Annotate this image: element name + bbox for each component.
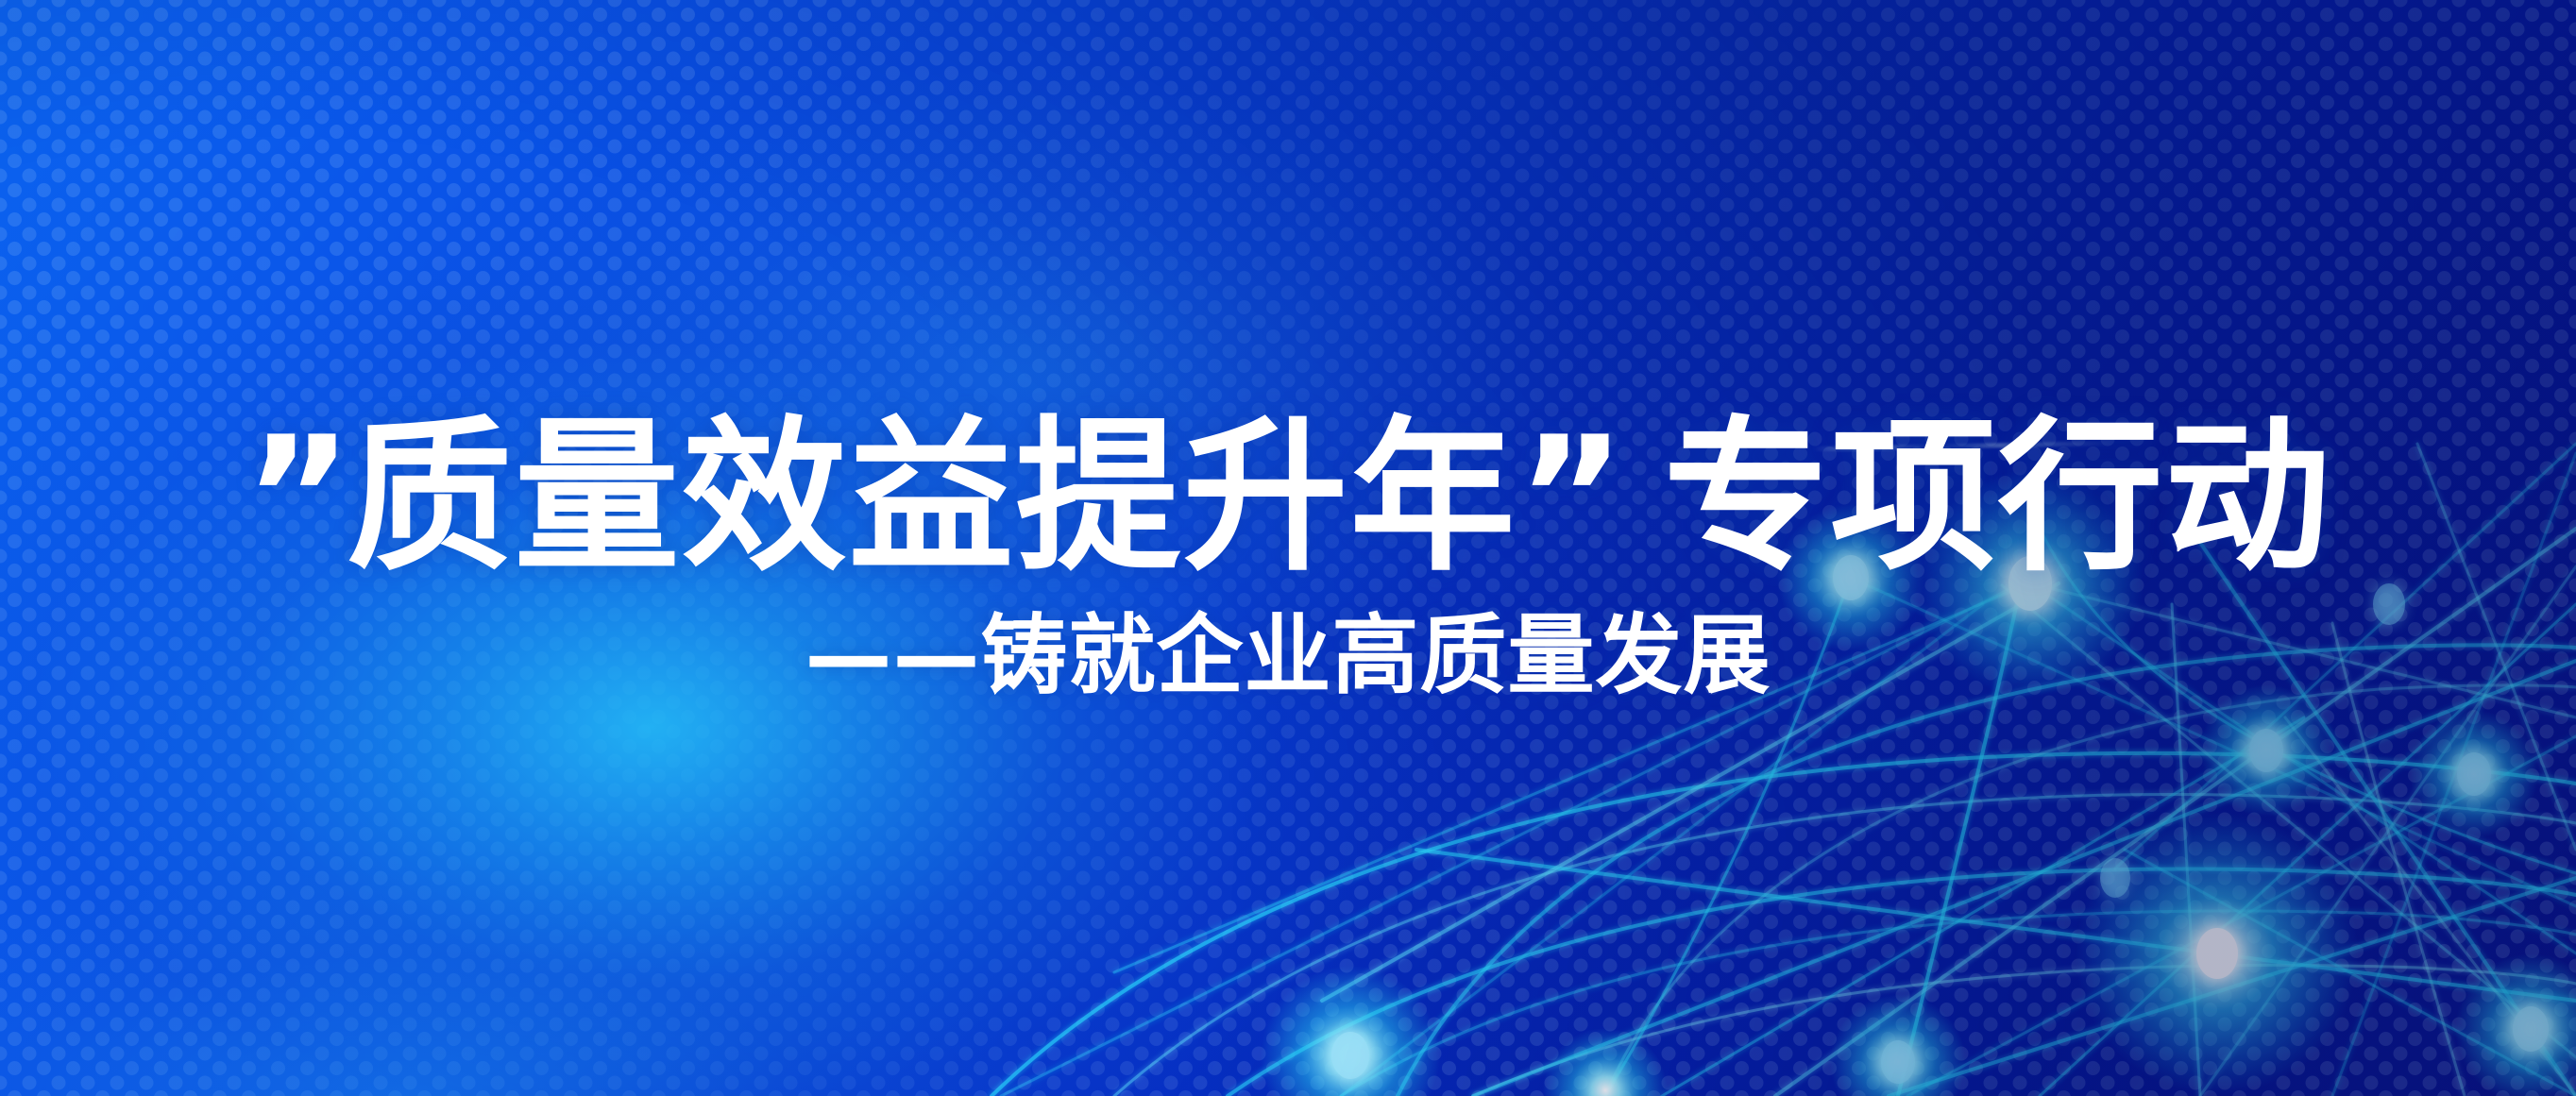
vignette	[0, 0, 2576, 1096]
promotional-banner: ”质量效益提升年”专项行动 ——铸就企业高质量发展	[0, 0, 2576, 1096]
